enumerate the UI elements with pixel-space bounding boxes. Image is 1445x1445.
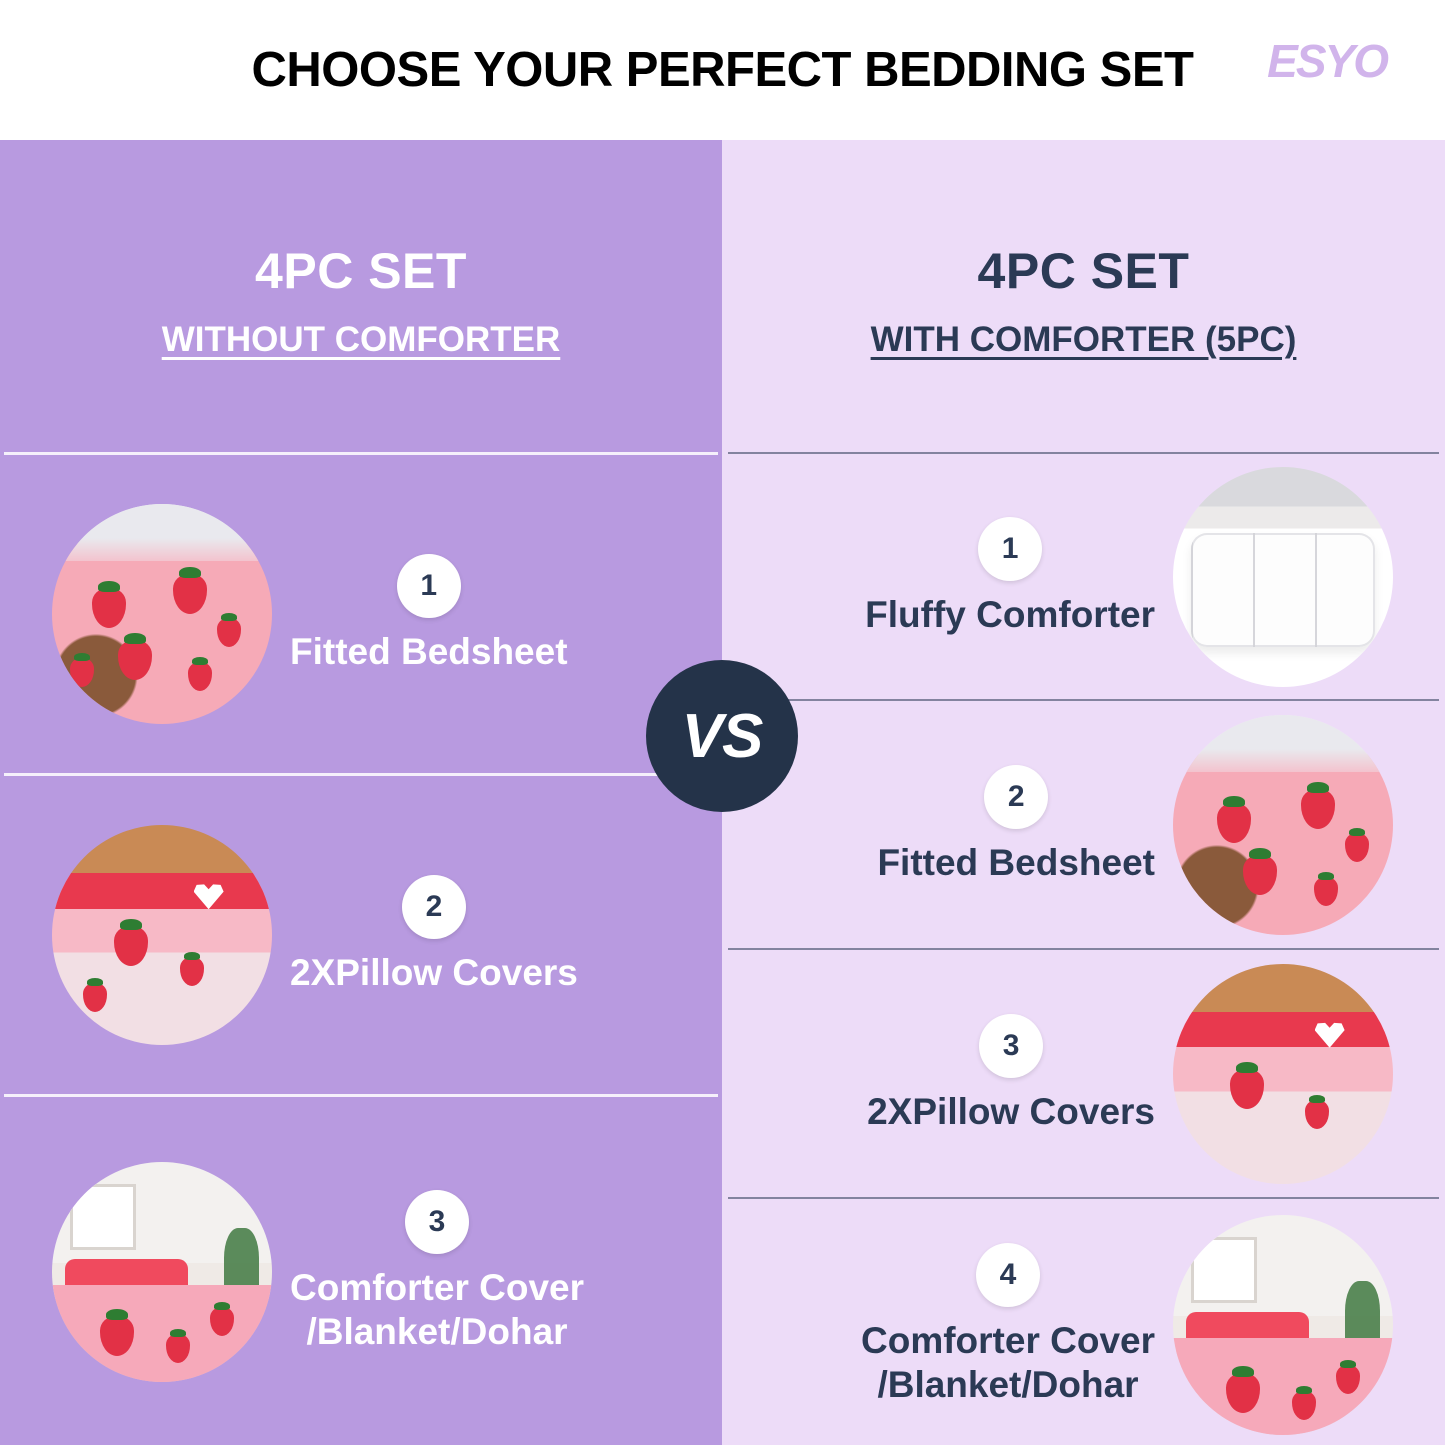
item-label: Fluffy Comforter <box>865 593 1155 637</box>
item-label-block: 2 Fitted Bedsheet <box>877 765 1155 885</box>
item-number-badge: 3 <box>979 1014 1043 1078</box>
list-item: 2 Fitted Bedsheet <box>722 701 1445 948</box>
thumbnail-fitted-bedsheet-left <box>52 504 272 724</box>
item-number-badge: 1 <box>397 554 461 618</box>
item-label-block: 3 2XPillow Covers <box>867 1014 1155 1134</box>
vs-badge: VS <box>646 660 798 812</box>
item-label-block: 3 Comforter Cover /Blanket/Dohar <box>290 1190 584 1353</box>
item-label-block: 1 Fluffy Comforter <box>865 517 1155 637</box>
column-title-left: 4PC SET <box>255 242 467 300</box>
infographic-page: CHOOSE YOUR PERFECT BEDDING SET ESYO 4PC… <box>0 0 1445 1445</box>
item-number-badge: 4 <box>976 1243 1040 1307</box>
list-item: 3 2XPillow Covers <box>722 950 1445 1197</box>
list-item: 1 Fluffy Comforter <box>722 454 1445 699</box>
item-label: 2XPillow Covers <box>290 951 578 995</box>
column-header-left: 4PC SET WITHOUT COMFORTER <box>0 140 722 452</box>
column-subtitle-right: WITH COMFORTER (5PC) <box>871 320 1297 360</box>
item-label-block: 1 Fitted Bedsheet <box>290 554 568 674</box>
item-label: 2XPillow Covers <box>867 1090 1155 1134</box>
item-label: Comforter Cover /Blanket/Dohar <box>290 1266 584 1353</box>
thumbnail-fitted-bedsheet-right <box>1173 715 1393 935</box>
column-title-right: 4PC SET <box>978 242 1190 300</box>
item-number-badge: 1 <box>978 517 1042 581</box>
item-label: Comforter Cover /Blanket/Dohar <box>861 1319 1155 1406</box>
thumbnail-pillow-covers-left <box>52 825 272 1045</box>
list-item: 2 2XPillow Covers <box>0 776 722 1094</box>
item-label: Fitted Bedsheet <box>877 841 1155 885</box>
item-label-block: 4 Comforter Cover /Blanket/Dohar <box>861 1243 1155 1406</box>
column-header-right: 4PC SET WITH COMFORTER (5PC) <box>722 140 1445 452</box>
column-without-comforter: 4PC SET WITHOUT COMFORTER 1 <box>0 140 722 1445</box>
list-item: 4 Comforter Cover /Blanket/Dohar <box>722 1199 1445 1445</box>
column-with-comforter: 4PC SET WITH COMFORTER (5PC) 1 Fluffy Co… <box>722 140 1445 1445</box>
thumbnail-comforter-cover-right <box>1173 1215 1393 1435</box>
thumbnail-comforter-cover-left <box>52 1162 272 1382</box>
item-number-badge: 3 <box>405 1190 469 1254</box>
item-label: Fitted Bedsheet <box>290 630 568 674</box>
thumbnail-fluffy-comforter <box>1173 467 1393 687</box>
item-number-badge: 2 <box>984 765 1048 829</box>
page-title: CHOOSE YOUR PERFECT BEDDING SET <box>252 42 1194 98</box>
item-number-badge: 2 <box>402 875 466 939</box>
column-subtitle-left: WITHOUT COMFORTER <box>162 320 561 360</box>
header: CHOOSE YOUR PERFECT BEDDING SET <box>0 0 1445 140</box>
item-label-block: 2 2XPillow Covers <box>290 875 578 995</box>
list-item: 3 Comforter Cover /Blanket/Dohar <box>0 1097 722 1445</box>
list-item: 1 Fitted Bedsheet <box>0 455 722 773</box>
thumbnail-pillow-covers-right <box>1173 964 1393 1184</box>
